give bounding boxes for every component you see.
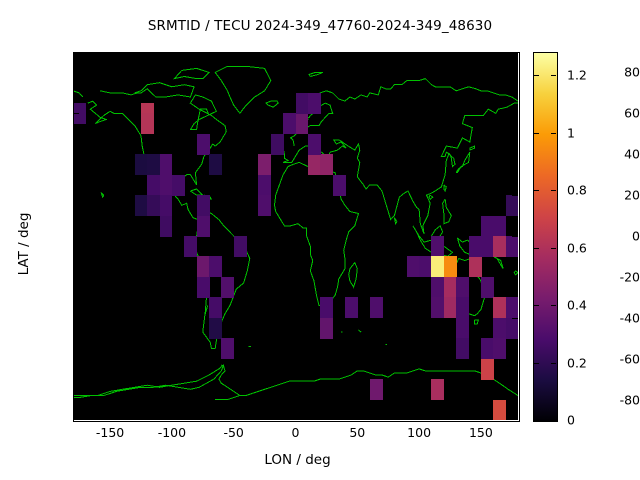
heatmap-cell (308, 134, 321, 155)
heatmap-cell (456, 318, 469, 339)
heatmap-cell (209, 154, 222, 175)
colorbar-tick (551, 305, 556, 306)
y-tick (73, 236, 79, 237)
colorbar-tick-label: 0.4 (567, 298, 587, 313)
x-tick (296, 414, 297, 420)
heatmap-cell (197, 277, 210, 298)
heatmap-cell (221, 277, 234, 298)
x-tick-label: -100 (142, 425, 202, 440)
x-tick (481, 52, 482, 58)
y-tick (73, 113, 79, 114)
heatmap-cell (456, 338, 469, 359)
heatmap-cell (456, 277, 469, 298)
y-tick-label: -60 (578, 351, 640, 366)
x-tick (481, 414, 482, 420)
map-plot-area (73, 52, 518, 420)
y-tick-label: -40 (578, 310, 640, 325)
x-tick-label: 150 (451, 425, 511, 440)
x-axis-label: LON / deg (0, 452, 595, 468)
y-tick-label: 40 (578, 147, 640, 162)
colorbar-tick-label: 1 (567, 125, 575, 140)
heatmap-cell (431, 379, 444, 400)
x-tick (234, 52, 235, 58)
y-tick-label: 20 (578, 188, 640, 203)
colorbar-tick-label: 1.2 (567, 68, 587, 83)
heatmap-cell (320, 297, 333, 318)
heatmap-cell (234, 236, 247, 257)
heatmap-cell (481, 216, 494, 237)
heatmap-cell (160, 154, 173, 175)
heatmap-cell (493, 216, 506, 237)
x-tick (172, 52, 173, 58)
y-tick-label: 60 (578, 106, 640, 121)
heatmap-cell (135, 154, 148, 175)
heatmap-cell (431, 236, 444, 257)
heatmap-cell (209, 256, 222, 277)
heatmap-cell (147, 154, 160, 175)
colorbar-tick-label: 0 (567, 413, 575, 428)
heatmap-cell (431, 297, 444, 318)
y-tick (512, 359, 518, 360)
heatmap-cell (308, 154, 321, 175)
colorbar-tick (534, 248, 539, 249)
heatmap-cell (160, 216, 173, 237)
colorbar-tick (534, 420, 539, 421)
y-tick-label: 0 (578, 229, 640, 244)
x-tick (234, 414, 235, 420)
heatmap-cell (444, 277, 457, 298)
colorbar-tick (534, 363, 539, 364)
colorbar-tick (534, 133, 539, 134)
heatmap-cell (469, 236, 482, 257)
y-tick (512, 195, 518, 196)
colorbar-tick (534, 305, 539, 306)
chart-title: SRMTID / TECU 2024-349_47760-2024-349_48… (0, 18, 640, 34)
heatmap-cell (221, 338, 234, 359)
x-tick (357, 414, 358, 420)
y-tick (512, 72, 518, 73)
heatmap-cell (370, 379, 383, 400)
heatmap-cells (73, 52, 518, 420)
heatmap-cell (431, 256, 444, 277)
heatmap-cell (258, 154, 271, 175)
y-tick (73, 277, 79, 278)
heatmap-cell (296, 113, 309, 134)
y-tick (512, 400, 518, 401)
colorbar-tick (551, 190, 556, 191)
heatmap-cell (160, 175, 173, 196)
heatmap-cell (141, 113, 154, 134)
heatmap-cell (370, 297, 383, 318)
heatmap-cell (493, 297, 506, 318)
y-tick (512, 113, 518, 114)
y-tick (73, 318, 79, 319)
heatmap-cell (197, 134, 210, 155)
heatmap-cell (506, 236, 518, 257)
y-tick (512, 236, 518, 237)
heatmap-cell (197, 195, 210, 216)
heatmap-cell (271, 134, 284, 155)
heatmap-cell (493, 338, 506, 359)
heatmap-cell (333, 175, 346, 196)
heatmap-cell (308, 93, 321, 114)
heatmap-cell (147, 195, 160, 216)
x-tick (419, 414, 420, 420)
colorbar-gradient (534, 53, 557, 421)
colorbar-tick-label: 0.2 (567, 355, 587, 370)
heatmap-cell (160, 195, 173, 216)
heatmap-cell (493, 400, 506, 420)
y-tick (512, 277, 518, 278)
x-tick (419, 52, 420, 58)
colorbar (533, 52, 558, 422)
x-tick (110, 414, 111, 420)
heatmap-cell (296, 93, 309, 114)
heatmap-cell (345, 297, 358, 318)
heatmap-cell (506, 297, 518, 318)
heatmap-cell (172, 175, 185, 196)
colorbar-tick (551, 248, 556, 249)
colorbar-tick (551, 133, 556, 134)
heatmap-cell (320, 154, 333, 175)
heatmap-cell (506, 318, 518, 339)
colorbar-tick-label: 0.8 (567, 183, 587, 198)
heatmap-cell (456, 297, 469, 318)
heatmap-cell (481, 338, 494, 359)
x-tick-label: 50 (327, 425, 387, 440)
x-tick (172, 414, 173, 420)
heatmap-cell (481, 359, 494, 380)
heatmap-cell (135, 195, 148, 216)
y-tick-label: 80 (578, 65, 640, 80)
heatmap-cell (444, 256, 457, 277)
heatmap-cell (419, 256, 432, 277)
heatmap-cell (469, 256, 482, 277)
y-tick (512, 154, 518, 155)
heatmap-cell (444, 297, 457, 318)
heatmap-cell (209, 297, 222, 318)
heatmap-cell (407, 256, 420, 277)
y-tick-label: -20 (578, 269, 640, 284)
colorbar-tick (551, 363, 556, 364)
heatmap-cell (481, 277, 494, 298)
y-tick (73, 72, 79, 73)
heatmap-cell (481, 236, 494, 257)
colorbar-tick (534, 75, 539, 76)
heatmap-cell (493, 236, 506, 257)
heatmap-cell (197, 256, 210, 277)
x-tick-label: 100 (389, 425, 449, 440)
heatmap-cell (506, 195, 518, 216)
y-tick (73, 359, 79, 360)
heatmap-cell (493, 318, 506, 339)
heatmap-cell (184, 236, 197, 257)
heatmap-cell (320, 318, 333, 339)
heatmap-cell (431, 277, 444, 298)
heatmap-cell (258, 195, 271, 216)
y-tick (73, 154, 79, 155)
heatmap-cell (209, 318, 222, 339)
x-tick-label: -50 (204, 425, 264, 440)
heatmap-cell (147, 175, 160, 196)
y-tick (512, 318, 518, 319)
chart-root: SRMTID / TECU 2024-349_47760-2024-349_48… (0, 0, 640, 480)
y-tick-label: -80 (578, 392, 640, 407)
x-tick (296, 52, 297, 58)
x-tick-label: -150 (80, 425, 140, 440)
heatmap-cell (283, 113, 296, 134)
colorbar-tick (534, 190, 539, 191)
x-tick (110, 52, 111, 58)
y-axis-label: LAT / deg (16, 184, 32, 304)
colorbar-tick (551, 75, 556, 76)
x-tick-label: 0 (266, 425, 326, 440)
x-tick (357, 52, 358, 58)
y-tick (73, 400, 79, 401)
y-tick (73, 195, 79, 196)
colorbar-tick (551, 420, 556, 421)
heatmap-cell (258, 175, 271, 196)
heatmap-cell (197, 216, 210, 237)
colorbar-tick-label: 0.6 (567, 240, 587, 255)
